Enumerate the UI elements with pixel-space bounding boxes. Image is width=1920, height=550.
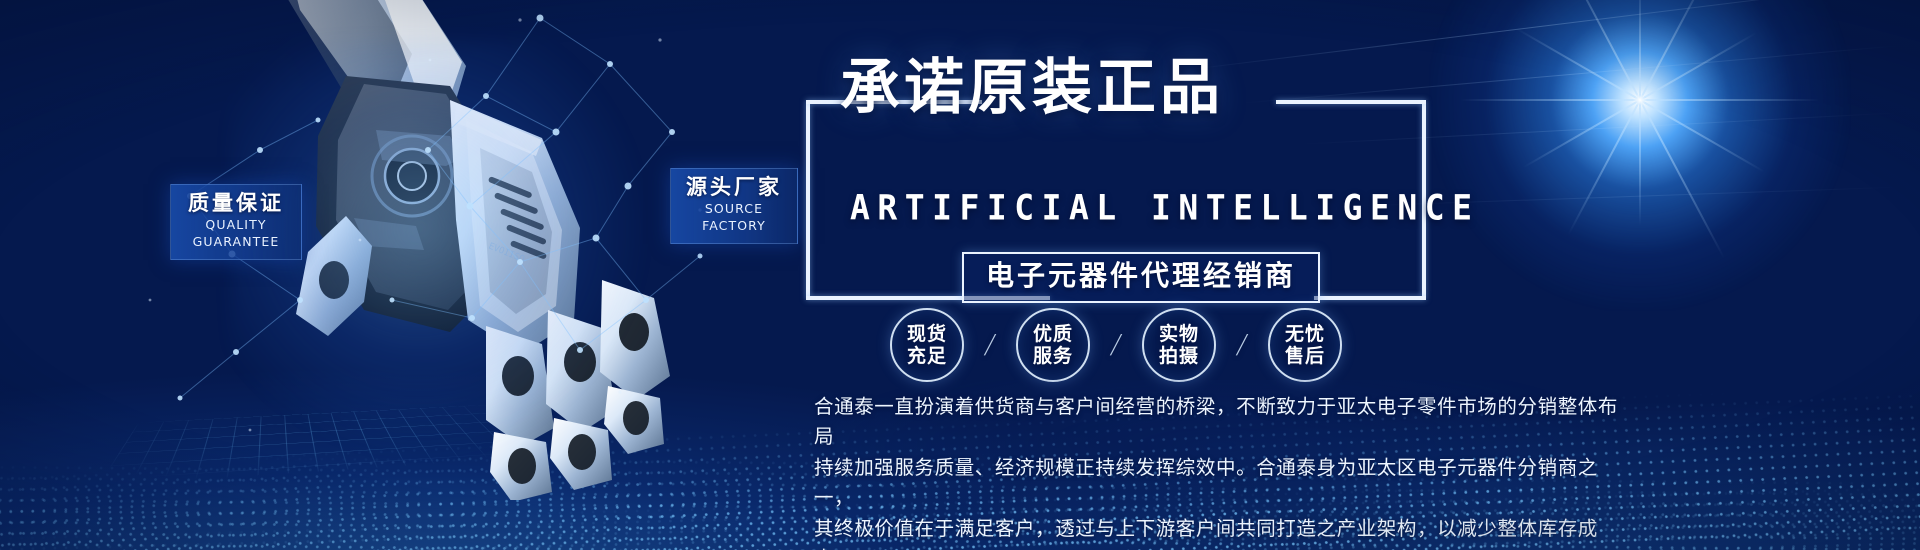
promo-banner: EVOIISO [0,0,1920,550]
vignette-overlay [0,0,1920,550]
